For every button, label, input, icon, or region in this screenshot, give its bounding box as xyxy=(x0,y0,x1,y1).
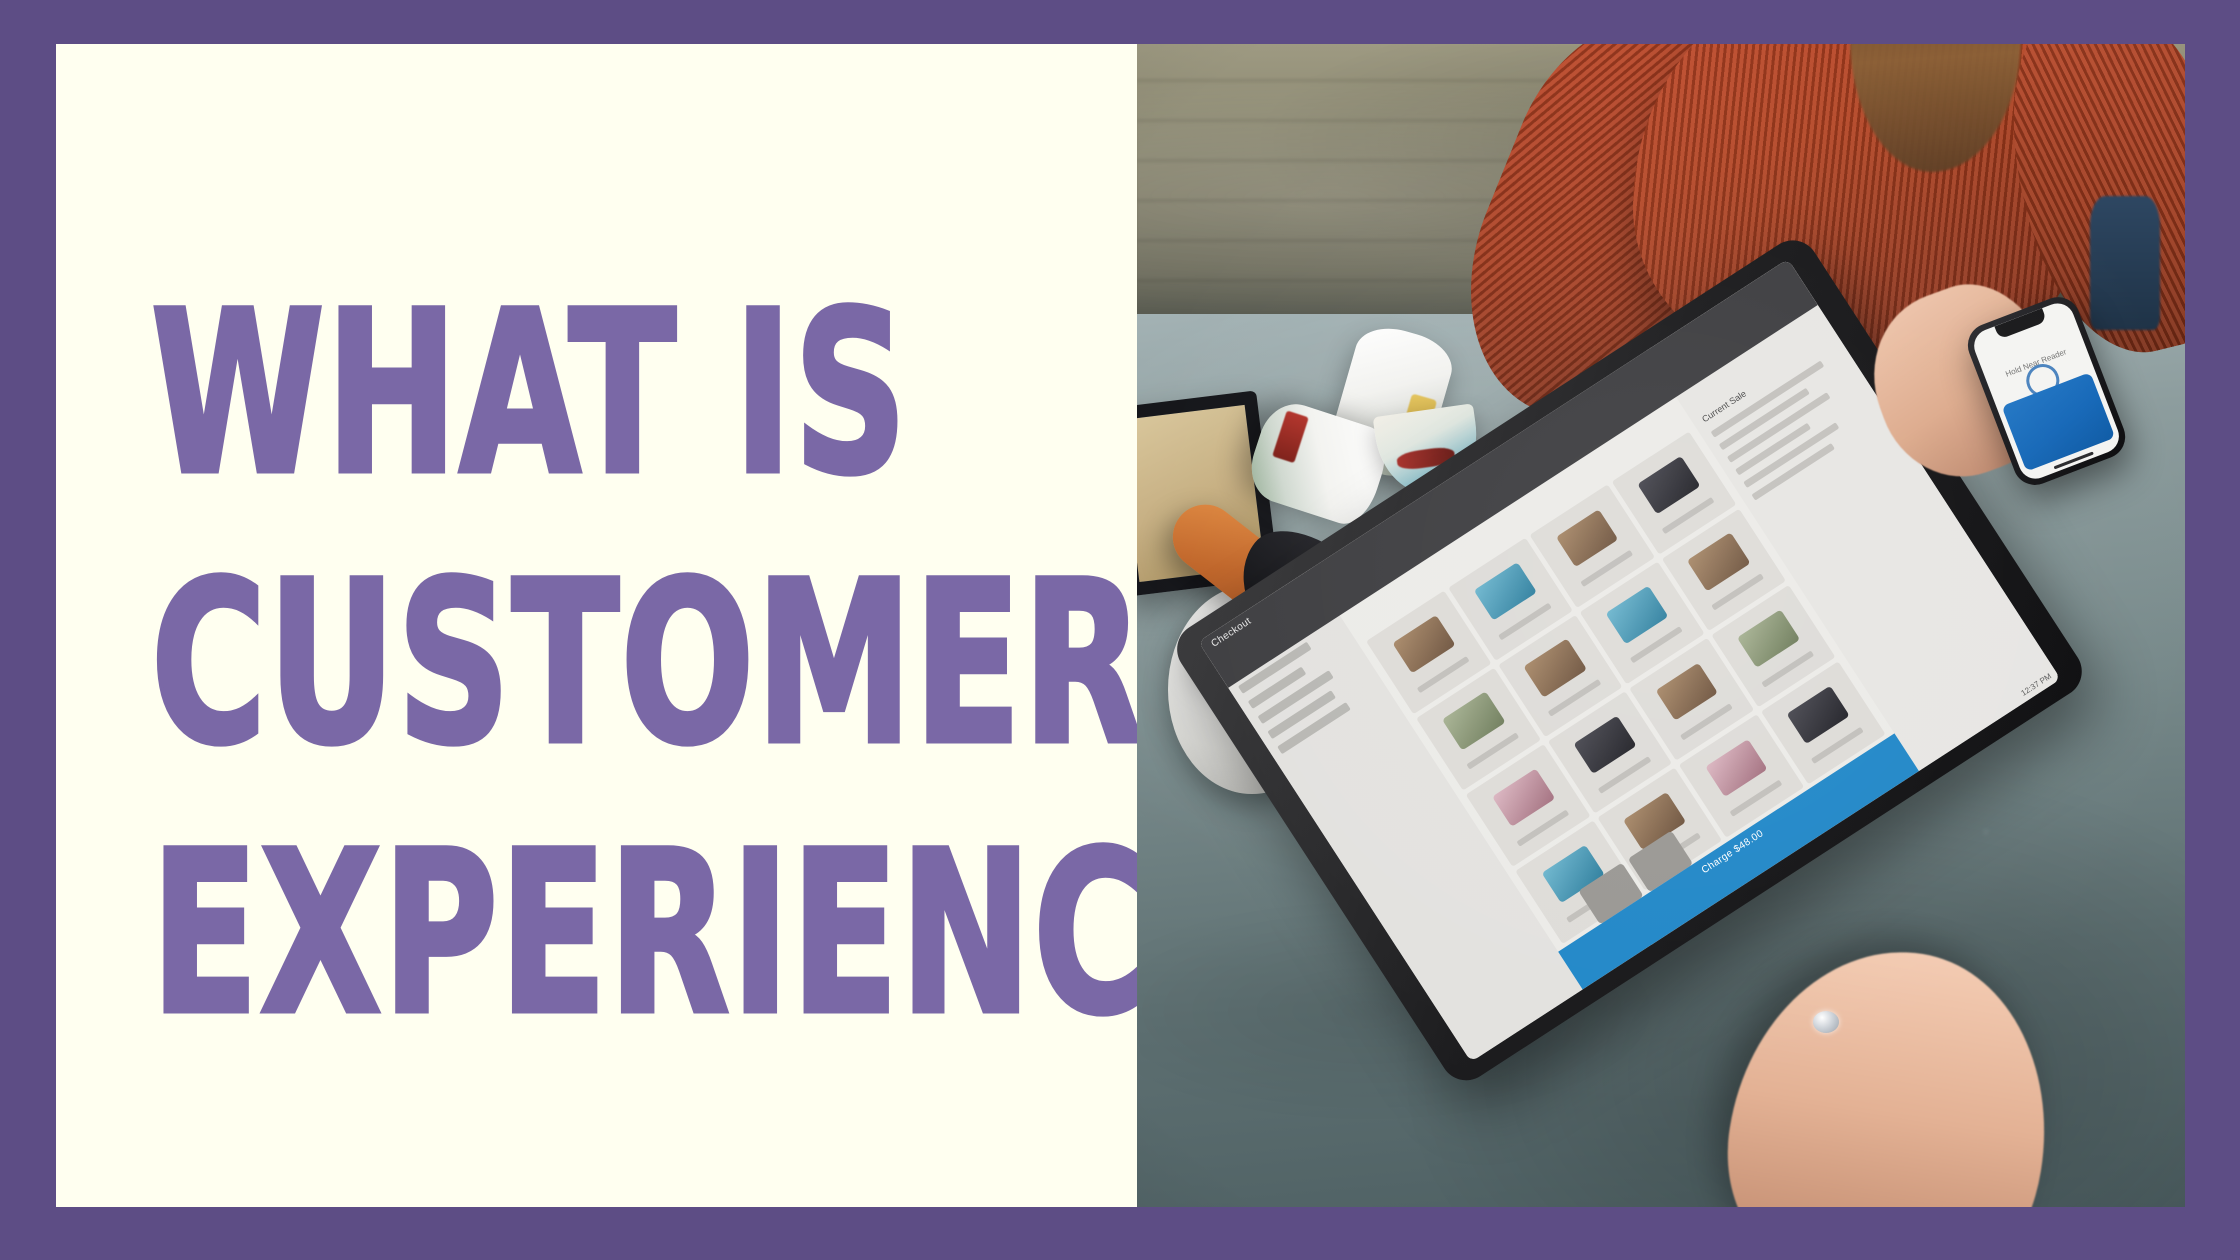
product-thumb-icon xyxy=(1574,715,1637,774)
jeans xyxy=(2090,196,2160,330)
page-title: WHAT IS CUSTOMER EXPERIENCE xyxy=(151,259,1101,1069)
product-thumb-icon xyxy=(1737,609,1800,668)
product-thumb-icon xyxy=(1474,562,1537,621)
product-thumb-icon xyxy=(1442,692,1505,751)
product-thumb-icon xyxy=(1655,662,1718,721)
headline-line-3: EXPERIENCE xyxy=(151,799,892,1069)
product-thumb-icon xyxy=(1687,533,1750,592)
ring-icon xyxy=(1813,1011,1839,1033)
payment-card[interactable] xyxy=(2002,372,2115,471)
product-thumb-icon xyxy=(1524,639,1587,698)
headline-panel: WHAT IS CUSTOMER EXPERIENCE xyxy=(56,44,1137,1207)
product-thumb-icon xyxy=(1637,456,1700,515)
product-thumb-icon xyxy=(1605,586,1668,645)
hero-photograph: Checkout xyxy=(1137,44,2185,1207)
product-thumb-icon xyxy=(1556,509,1619,568)
product-thumb-icon xyxy=(1787,686,1850,745)
headline-line-2: CUSTOMER xyxy=(151,529,892,799)
product-thumb-icon xyxy=(1492,768,1555,827)
headline-line-1: WHAT IS xyxy=(151,259,892,529)
product-thumb-icon xyxy=(1705,739,1768,798)
product-thumb-icon xyxy=(1392,615,1455,674)
poster-canvas: WHAT IS CUSTOMER EXPERIENCE xyxy=(0,0,2240,1260)
